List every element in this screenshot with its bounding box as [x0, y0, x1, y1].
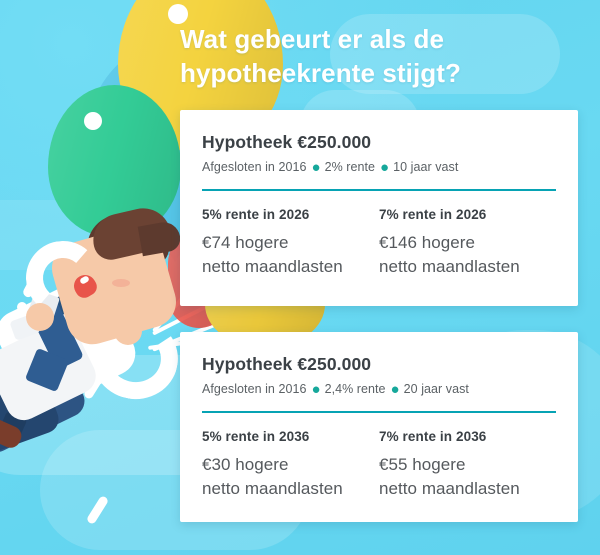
card-subtitle-part: 10 jaar vast	[393, 160, 458, 174]
card-subtitle-part: 20 jaar vast	[404, 382, 469, 396]
page-title-line-2: hypotheekrente stijgt?	[180, 56, 580, 90]
scenario-label: netto maandlasten	[202, 477, 379, 501]
scenario-body: €146 hogere netto maandlasten	[379, 231, 556, 279]
card-title: Hypotheek €250.000	[202, 354, 556, 375]
bullet-dot-icon: ●	[380, 159, 389, 176]
scenario-heading: 7% rente in 2036	[379, 429, 556, 444]
scenario-label: netto maandlasten	[379, 477, 556, 501]
bullet-dot-icon: ●	[391, 381, 400, 398]
card-title: Hypotheek €250.000	[202, 132, 556, 153]
scenario-body: €55 hogere netto maandlasten	[379, 453, 556, 501]
bullet-dot-icon: ●	[311, 381, 320, 398]
scenario-body: €30 hogere netto maandlasten	[202, 453, 379, 501]
card-subtitle: Afgesloten in 2016●2,4% rente●20 jaar va…	[202, 382, 556, 396]
scenario-heading: 7% rente in 2026	[379, 207, 556, 222]
card-subtitle: Afgesloten in 2016●2% rente●10 jaar vast	[202, 160, 556, 174]
mortgage-card-2: Hypotheek €250.000 Afgesloten in 2016●2,…	[180, 332, 578, 522]
scenario-body: €74 hogere netto maandlasten	[202, 231, 379, 279]
scenario-column: 5% rente in 2036 €30 hogere netto maandl…	[202, 429, 379, 501]
scenario-heading: 5% rente in 2036	[202, 429, 379, 444]
card-subtitle-part: Afgesloten in 2016	[202, 382, 306, 396]
scenario-amount: €55 hogere	[379, 453, 556, 477]
scenario-heading: 5% rente in 2026	[202, 207, 379, 222]
scenario-column: 5% rente in 2026 €74 hogere netto maandl…	[202, 207, 379, 279]
scenario-amount: €74 hogere	[202, 231, 379, 255]
scenario-amount: €30 hogere	[202, 453, 379, 477]
page-title: Wat gebeurt er als de hypotheekrente sti…	[180, 22, 580, 91]
scenario-label: netto maandlasten	[379, 255, 556, 279]
mortgage-card-1: Hypotheek €250.000 Afgesloten in 2016●2%…	[180, 110, 578, 306]
card-subtitle-part: 2,4% rente	[325, 382, 386, 396]
page-title-line-1: Wat gebeurt er als de	[180, 22, 580, 56]
scenario-column: 7% rente in 2036 €55 hogere netto maandl…	[379, 429, 556, 501]
scenario-amount: €146 hogere	[379, 231, 556, 255]
scenario-columns: 5% rente in 2036 €30 hogere netto maandl…	[202, 429, 556, 501]
bullet-dot-icon: ●	[311, 159, 320, 176]
card-subtitle-part: Afgesloten in 2016	[202, 160, 306, 174]
scenario-label: netto maandlasten	[202, 255, 379, 279]
card-divider	[202, 189, 556, 191]
scenario-columns: 5% rente in 2026 €74 hogere netto maandl…	[202, 207, 556, 279]
scenario-column: 7% rente in 2026 €146 hogere netto maand…	[379, 207, 556, 279]
card-subtitle-part: 2% rente	[325, 160, 375, 174]
card-divider	[202, 411, 556, 413]
